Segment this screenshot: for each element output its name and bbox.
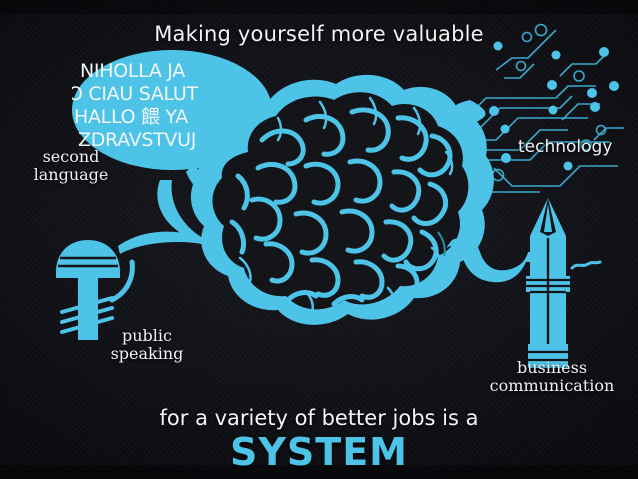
label-second-language: second language [12,148,130,184]
page-title: Making yourself more valuable [0,22,638,46]
label-business-communication: business communication [468,359,636,395]
label-technology: technology [518,137,612,157]
pen-icon [526,198,600,368]
bottom-caption: for a variety of better jobs is a [0,406,638,430]
slide-canvas: Making yourself more valuable NIHOLLA JA… [0,0,638,479]
bottom-keyword: SYSTEM [0,430,638,474]
microphone-icon [56,240,132,340]
circuit-nodes [471,25,620,181]
label-public-speaking: public speaking [92,327,202,363]
